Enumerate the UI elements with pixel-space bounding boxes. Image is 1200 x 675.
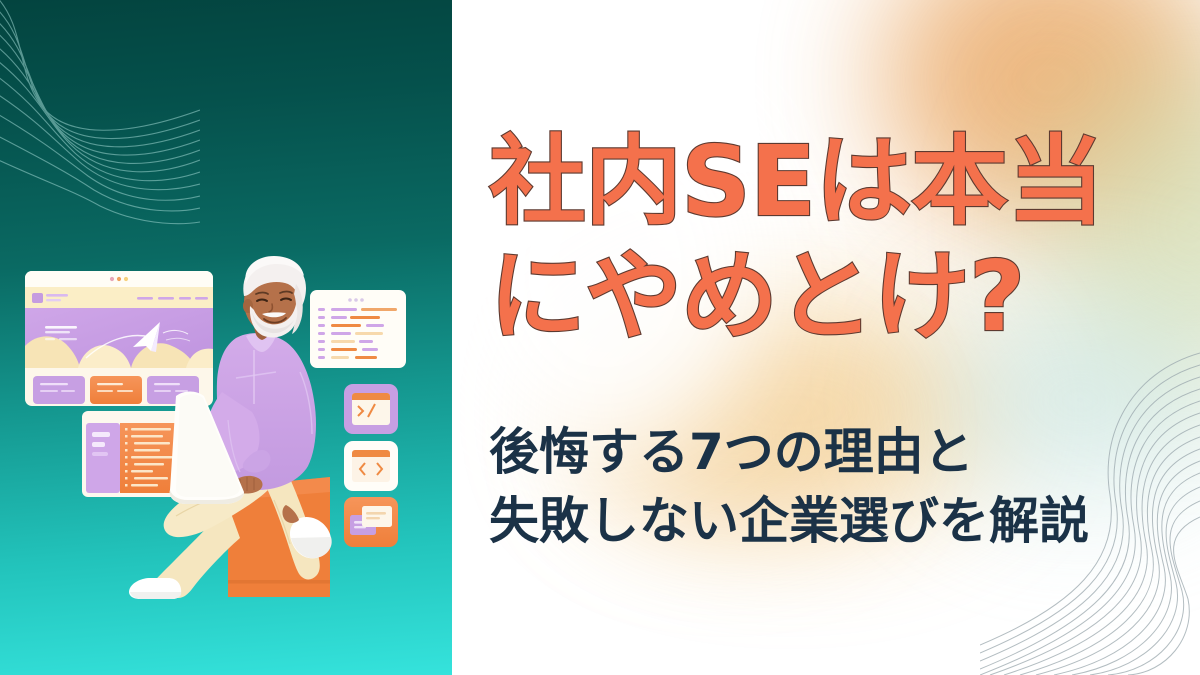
browser-window-mockup [25, 271, 213, 406]
subtitle-line-1: 後悔する7つの理由と [489, 418, 1189, 487]
developer-illustration [0, 0, 452, 675]
subtitle-line-2: 失敗しない企業選びを解説 [489, 487, 1189, 556]
title-line-2: にやめとけ? [489, 243, 1179, 351]
terminal-icon-card [344, 384, 398, 434]
title-block: 社内SEは本当 にやめとけ? [489, 128, 1179, 351]
thumbnail-canvas: 社内SEは本当 にやめとけ? 後悔する7つの理由と 失敗しない企業選びを解説 [0, 0, 1200, 675]
code-editor-window [82, 411, 184, 497]
windows-icon-card [344, 497, 398, 547]
left-illustration-panel [0, 0, 452, 675]
title-line-1: 社内SEは本当 [489, 128, 1179, 236]
code-tag-icon-card [344, 441, 398, 491]
code-snippet-window [310, 290, 406, 368]
subtitle-block: 後悔する7つの理由と 失敗しない企業選びを解説 [489, 418, 1189, 556]
